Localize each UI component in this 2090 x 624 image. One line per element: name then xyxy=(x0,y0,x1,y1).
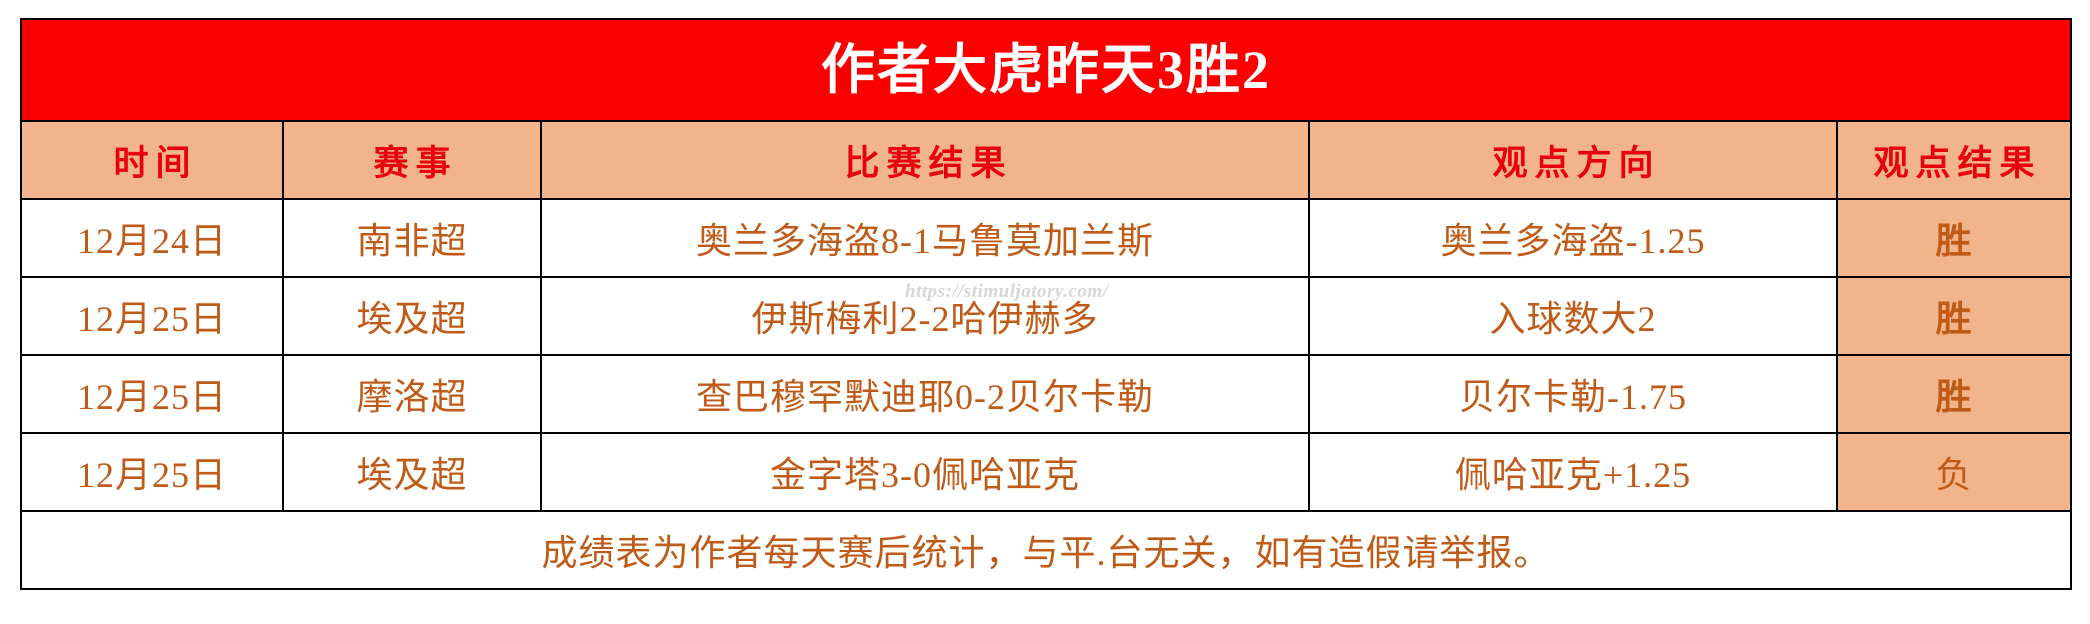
cell-time: 12月25日 xyxy=(21,277,283,355)
status-badge: 胜 xyxy=(1838,290,2070,342)
table-row: 12月25日 摩洛超 查巴穆罕默迪耶0-2贝尔卡勒 贝尔卡勒-1.75 胜 xyxy=(21,355,2071,433)
column-header-time: 时间 xyxy=(21,121,283,199)
cell-outcome: 负 xyxy=(1837,433,2071,511)
cell-view-text: 入球数大2 xyxy=(1310,290,1836,342)
cell-league-text: 埃及超 xyxy=(284,446,540,498)
table-row: 12月25日 埃及超 伊斯梅利2-2哈伊赫多 入球数大2 胜 xyxy=(21,277,2071,355)
title-banner-row: 作者大虎昨天3胜2 xyxy=(21,19,2071,121)
cell-time-text: 12月24日 xyxy=(22,212,282,264)
column-header-result-label: 比赛结果 xyxy=(542,135,1308,186)
cell-result: 金字塔3-0佩哈亚克 xyxy=(541,433,1309,511)
cell-time-text: 12月25日 xyxy=(22,446,282,498)
status-badge: 胜 xyxy=(1838,212,2070,264)
cell-league-text: 埃及超 xyxy=(284,290,540,342)
footer-note-row: 成绩表为作者每天赛后统计，与平.台无关，如有造假请举报。 xyxy=(21,511,2071,589)
cell-time: 12月25日 xyxy=(21,433,283,511)
footer-note-text: 成绩表为作者每天赛后统计，与平.台无关，如有造假请举报。 xyxy=(22,524,2070,576)
cell-outcome: 胜 xyxy=(1837,199,2071,277)
cell-view: 贝尔卡勒-1.75 xyxy=(1309,355,1837,433)
status-badge: 胜 xyxy=(1838,368,2070,420)
performance-record-table: 作者大虎昨天3胜2 时间 赛事 比赛结果 观点方向 观点结果 xyxy=(20,18,2072,590)
cell-time-text: 12月25日 xyxy=(22,290,282,342)
cell-view-text: 贝尔卡勒-1.75 xyxy=(1310,368,1836,420)
cell-view: 入球数大2 xyxy=(1309,277,1837,355)
cell-league: 南非超 xyxy=(283,199,541,277)
table-header-row: 时间 赛事 比赛结果 观点方向 观点结果 xyxy=(21,121,2071,199)
cell-time-text: 12月25日 xyxy=(22,368,282,420)
cell-result: 伊斯梅利2-2哈伊赫多 xyxy=(541,277,1309,355)
column-header-view-label: 观点方向 xyxy=(1310,135,1836,186)
cell-league: 摩洛超 xyxy=(283,355,541,433)
record-sheet: https://stimuljatory.com/ 作者大虎昨天3胜2 时间 xyxy=(0,0,2090,624)
cell-view-text: 奥兰多海盗-1.25 xyxy=(1310,212,1836,264)
footer-note-cell: 成绩表为作者每天赛后统计，与平.台无关，如有造假请举报。 xyxy=(21,511,2071,589)
title-banner-cell: 作者大虎昨天3胜2 xyxy=(21,19,2071,121)
page-title: 作者大虎昨天3胜2 xyxy=(22,20,2070,120)
column-header-league: 赛事 xyxy=(283,121,541,199)
cell-view: 奥兰多海盗-1.25 xyxy=(1309,199,1837,277)
cell-view: 佩哈亚克+1.25 xyxy=(1309,433,1837,511)
table-row: 12月24日 南非超 奥兰多海盗8-1马鲁莫加兰斯 奥兰多海盗-1.25 胜 xyxy=(21,199,2071,277)
cell-league-text: 摩洛超 xyxy=(284,368,540,420)
cell-result-text: 奥兰多海盗8-1马鲁莫加兰斯 xyxy=(542,212,1308,264)
column-header-outcome: 观点结果 xyxy=(1837,121,2071,199)
cell-league: 埃及超 xyxy=(283,433,541,511)
cell-league: 埃及超 xyxy=(283,277,541,355)
status-badge: 负 xyxy=(1838,446,2070,498)
cell-outcome: 胜 xyxy=(1837,277,2071,355)
cell-time: 12月25日 xyxy=(21,355,283,433)
cell-result-text: 伊斯梅利2-2哈伊赫多 xyxy=(542,290,1308,342)
column-header-league-label: 赛事 xyxy=(284,135,540,186)
cell-league-text: 南非超 xyxy=(284,212,540,264)
cell-time: 12月24日 xyxy=(21,199,283,277)
column-header-time-label: 时间 xyxy=(22,135,282,186)
table-row: 12月25日 埃及超 金字塔3-0佩哈亚克 佩哈亚克+1.25 负 xyxy=(21,433,2071,511)
cell-view-text: 佩哈亚克+1.25 xyxy=(1310,446,1836,498)
column-header-result: 比赛结果 xyxy=(541,121,1309,199)
column-header-view: 观点方向 xyxy=(1309,121,1837,199)
column-header-outcome-label: 观点结果 xyxy=(1838,135,2070,186)
cell-result: 查巴穆罕默迪耶0-2贝尔卡勒 xyxy=(541,355,1309,433)
cell-result-text: 金字塔3-0佩哈亚克 xyxy=(542,446,1308,498)
cell-outcome: 胜 xyxy=(1837,355,2071,433)
cell-result-text: 查巴穆罕默迪耶0-2贝尔卡勒 xyxy=(542,368,1308,420)
cell-result: 奥兰多海盗8-1马鲁莫加兰斯 xyxy=(541,199,1309,277)
